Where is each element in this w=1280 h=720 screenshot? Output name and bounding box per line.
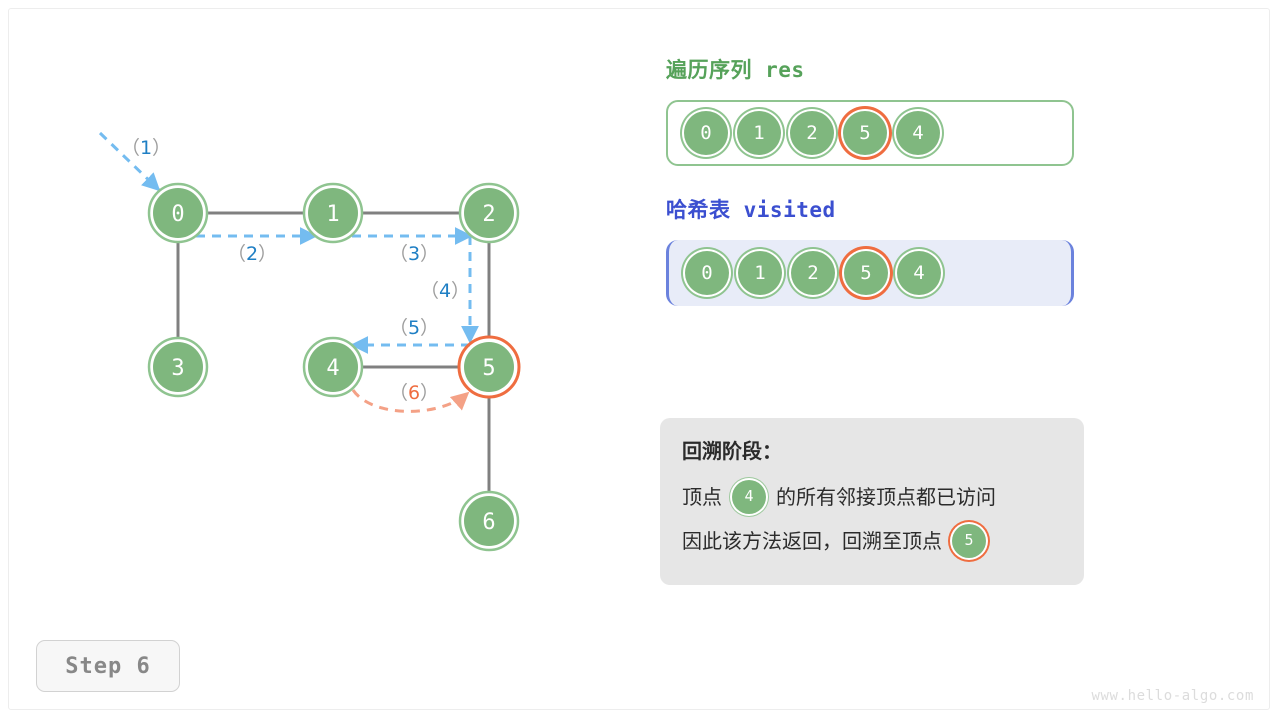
visited-item-label: 2 [807,262,818,284]
visited-item-label: 1 [754,262,765,284]
res-item-label: 4 [912,122,923,144]
graph-diagram: （1） （2） （3） （4） （5） （6） 0 1 2 [60,100,620,580]
step-label-6: （6） [389,382,439,404]
graph-node-0[interactable]: 0 [149,184,207,242]
res-item[interactable]: 4 [896,111,940,155]
explanation-line-2-before: 因此该方法返回，回溯至顶点 [682,527,942,556]
explanation-line-1: 顶点 4 的所有邻接顶点都已访问 [682,475,1062,519]
res-item-label: 5 [859,122,870,144]
res-item[interactable]: 2 [790,111,834,155]
visited-item[interactable]: 2 [791,251,835,295]
explanation-line-2: 因此该方法返回，回溯至顶点 5 [682,519,1062,563]
graph-vertices: 0 1 2 3 4 [149,184,519,550]
graph-node-1-label: 1 [326,202,339,227]
graph-node-2[interactable]: 2 [460,184,518,242]
res-item[interactable]: 0 [684,111,728,155]
step-label-4: （4） [420,280,470,302]
step-label-2: （2） [227,243,277,265]
explanation-line-1-before: 顶点 [682,483,722,512]
graph-node-6-label: 6 [482,510,495,535]
graph-node-6[interactable]: 6 [460,492,518,550]
explanation-backtrack-chip: 5 [952,524,986,558]
res-item-label: 2 [806,122,817,144]
graph-node-4-label: 4 [326,356,339,381]
explanation-vertex-chip-label: 4 [744,486,753,508]
graph-node-5-label: 5 [482,356,495,381]
graph-node-2-label: 2 [482,202,495,227]
step-label-3: （3） [389,243,439,265]
graph-node-4[interactable]: 4 [304,338,362,396]
res-title: 遍历序列 res [666,54,1086,84]
step-label-5: （5） [389,317,439,339]
visited-item[interactable]: 4 [897,251,941,295]
graph-node-0-label: 0 [171,202,184,227]
diagram-canvas: （1） （2） （3） （4） （5） （6） 0 1 2 [0,0,1280,720]
res-array: 0 1 2 5 4 [666,100,1074,166]
explanation-vertex-chip: 4 [732,480,766,514]
visited-item-label: 0 [701,262,712,284]
visited-title: 哈希表 visited [666,194,1086,224]
explanation-backtrack-chip-label: 5 [964,530,973,552]
visited-item-label: 4 [913,262,924,284]
state-panel: 遍历序列 res 0 1 2 5 4 哈希表 visited 0 1 2 5 4 [666,54,1086,306]
visited-item[interactable]: 0 [685,251,729,295]
graph-node-3-label: 3 [171,356,184,381]
visited-item[interactable]: 1 [738,251,782,295]
explanation-card: 回溯阶段： 顶点 4 的所有邻接顶点都已访问 因此该方法返回，回溯至顶点 5 [660,418,1084,585]
visited-item-label: 5 [860,262,871,284]
graph-node-3[interactable]: 3 [149,338,207,396]
res-item-label: 0 [700,122,711,144]
res-item[interactable]: 1 [737,111,781,155]
step-badge: Step 6 [36,640,180,692]
visited-array: 0 1 2 5 4 [666,240,1074,306]
explanation-line-1-after: 的所有邻接顶点都已访问 [776,483,996,512]
graph-node-1[interactable]: 1 [304,184,362,242]
visited-item-highlighted[interactable]: 5 [844,251,888,295]
step-label-1: （1） [121,137,171,159]
res-item-label: 1 [753,122,764,144]
graph-node-5[interactable]: 5 [459,337,519,397]
res-item-highlighted[interactable]: 5 [843,111,887,155]
watermark: www.hello-algo.com [1091,688,1254,704]
explanation-heading: 回溯阶段： [682,438,1062,465]
